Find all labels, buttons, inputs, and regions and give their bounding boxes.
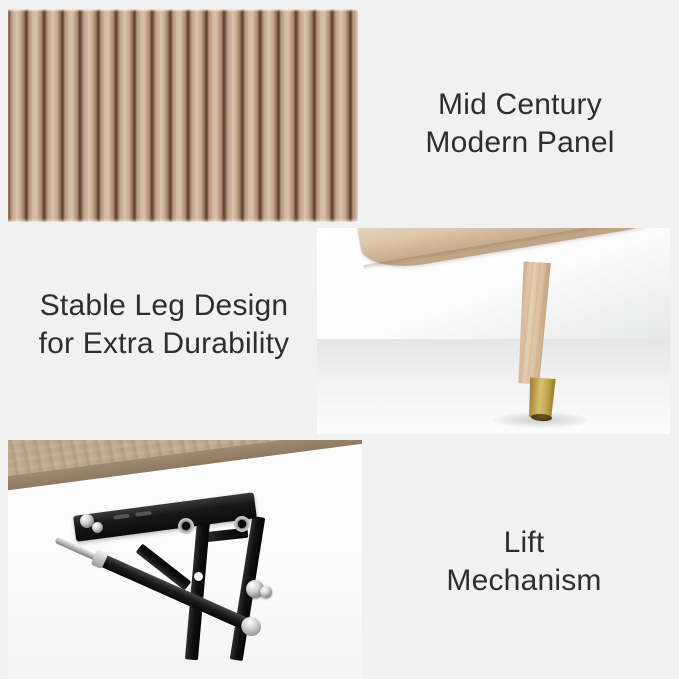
- lift-mechanism-image: [8, 440, 362, 679]
- pivot-eyelet: [178, 518, 194, 534]
- caption-mid-century-modern-panel: Mid Century Modern Panel: [370, 86, 670, 163]
- fluted-panel-image: [8, 9, 358, 222]
- gas-strut: [91, 551, 257, 634]
- chrome-bolt: [92, 522, 103, 533]
- wood-tabletop: [8, 440, 362, 494]
- panel-bottom-highlight: [8, 218, 358, 222]
- arm-pivot-hole: [194, 572, 203, 581]
- stable-leg-image: [317, 228, 670, 434]
- panel-top-highlight: [8, 9, 358, 12]
- rail-shadow: [364, 228, 670, 270]
- chrome-bolt: [260, 586, 272, 598]
- pivot-eyelet: [234, 516, 250, 532]
- mounting-slot: [135, 511, 151, 517]
- mounting-slot: [113, 514, 129, 520]
- caption-stable-leg-design: Stable Leg Design for Extra Durability: [6, 287, 322, 364]
- caption-lift-mechanism: Lift Mechanism: [378, 524, 670, 601]
- mechanism-arm-left: [185, 520, 210, 661]
- cabinet-bottom-rail: [356, 228, 670, 274]
- product-feature-collage: Mid Century Modern Panel Stable Leg Desi…: [0, 0, 679, 679]
